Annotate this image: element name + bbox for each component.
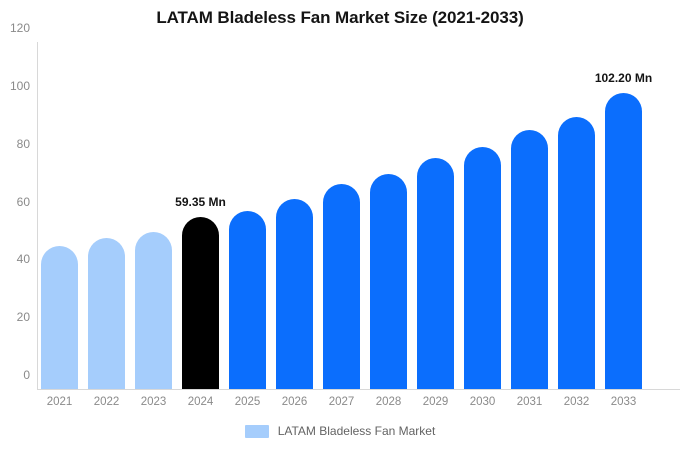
bar-2023[interactable] bbox=[135, 232, 172, 389]
x-axis-tick-label: 2021 bbox=[47, 396, 73, 408]
bar-2021[interactable] bbox=[41, 246, 78, 389]
bar-slot: 102.20 Mn bbox=[605, 42, 642, 389]
bar-2031[interactable] bbox=[511, 130, 548, 389]
bar-chart: LATAM Bladeless Fan Market Size (2021-20… bbox=[0, 0, 680, 450]
chart-legend: LATAM Bladeless Fan Market bbox=[0, 424, 680, 438]
x-axis-tick-label: 2023 bbox=[141, 396, 167, 408]
bar-value-label: 102.20 Mn bbox=[595, 71, 652, 85]
legend-label: LATAM Bladeless Fan Market bbox=[278, 424, 436, 438]
x-axis-tick-label: 2026 bbox=[282, 396, 308, 408]
bar-2028[interactable] bbox=[370, 174, 407, 389]
bar-slot bbox=[41, 42, 78, 389]
bar-slot bbox=[229, 42, 266, 389]
bar-2025[interactable] bbox=[229, 211, 266, 389]
x-axis-tick-label: 2022 bbox=[94, 396, 120, 408]
bar-slot bbox=[276, 42, 313, 389]
bar-slot bbox=[558, 42, 595, 389]
bar-slot bbox=[323, 42, 360, 389]
y-axis-tick-label: 60 bbox=[17, 195, 30, 209]
bar-slot bbox=[135, 42, 172, 389]
bar-slot bbox=[511, 42, 548, 389]
x-axis-tick-label: 2027 bbox=[329, 396, 355, 408]
y-axis-tick-label: 120 bbox=[10, 21, 30, 35]
legend-swatch bbox=[245, 425, 269, 438]
x-axis-tick-label: 2025 bbox=[235, 396, 261, 408]
bar-2022[interactable] bbox=[88, 238, 125, 389]
x-axis-tick-label: 2024 bbox=[188, 396, 214, 408]
chart-title: LATAM Bladeless Fan Market Size (2021-20… bbox=[0, 8, 680, 28]
bar-value-label: 59.35 Mn bbox=[175, 195, 226, 209]
bar-2027[interactable] bbox=[323, 184, 360, 389]
y-axis-tick-label: 40 bbox=[17, 252, 30, 266]
x-axis-tick-label: 2030 bbox=[470, 396, 496, 408]
x-axis-tick-label: 2032 bbox=[564, 396, 590, 408]
bar-slot bbox=[88, 42, 125, 389]
bar-2030[interactable] bbox=[464, 147, 501, 389]
y-axis-tick-label: 100 bbox=[10, 79, 30, 93]
x-axis-tick-label: 2029 bbox=[423, 396, 449, 408]
bar-slot bbox=[417, 42, 454, 389]
x-axis-tick-label: 2033 bbox=[611, 396, 637, 408]
bar-2029[interactable] bbox=[417, 158, 454, 389]
bar-2033[interactable] bbox=[605, 93, 642, 389]
x-axis-line bbox=[37, 389, 680, 390]
x-axis-tick-label: 2031 bbox=[517, 396, 543, 408]
bar-2032[interactable] bbox=[558, 117, 595, 389]
bar-2024[interactable] bbox=[182, 217, 219, 389]
x-axis-tick-label: 2028 bbox=[376, 396, 402, 408]
bar-2026[interactable] bbox=[276, 199, 313, 389]
y-axis-tick-label: 80 bbox=[17, 137, 30, 151]
bar-slot: 59.35 Mn bbox=[182, 42, 219, 389]
bar-slot bbox=[464, 42, 501, 389]
plot-area: 02040608010012059.35 Mn102.20 Mn bbox=[37, 42, 680, 389]
bar-slot bbox=[370, 42, 407, 389]
y-axis-tick-label: 0 bbox=[23, 368, 30, 382]
y-axis-tick-label: 20 bbox=[17, 310, 30, 324]
